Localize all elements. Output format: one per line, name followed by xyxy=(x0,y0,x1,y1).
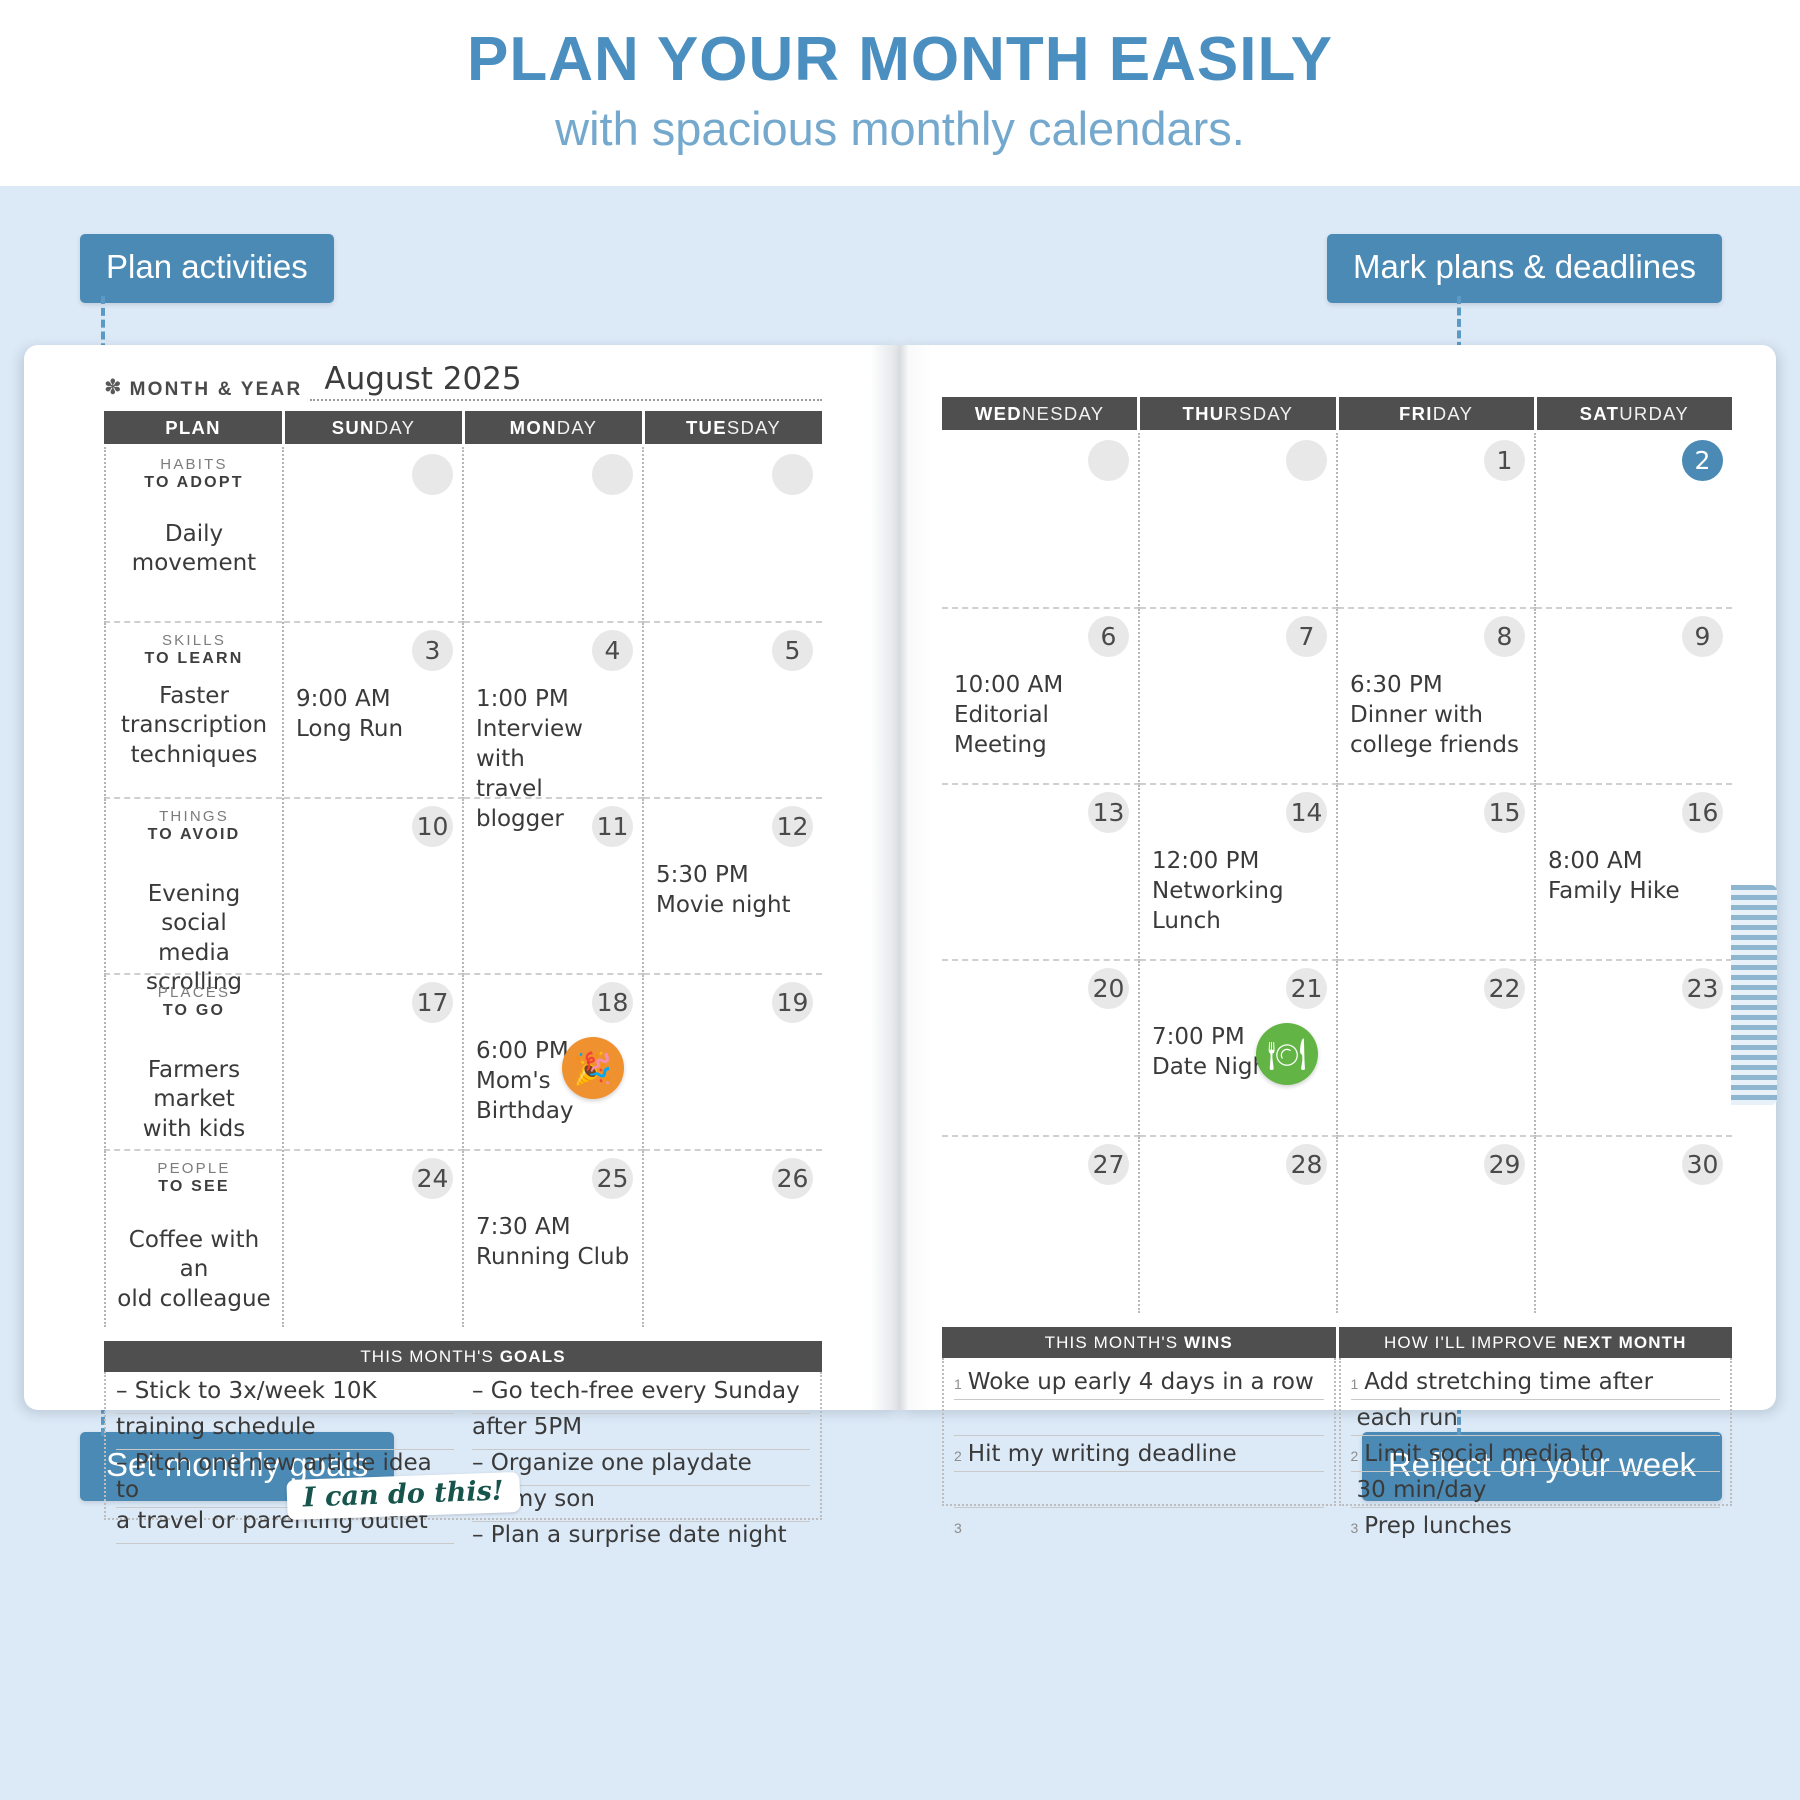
header-friday-bold: FRI xyxy=(1399,403,1433,424)
calendar-day-cell[interactable]: 20 xyxy=(942,961,1140,1137)
plan-cell-places-k1: PLACES xyxy=(112,984,276,1001)
plan-cell-habits-k1: HABITS xyxy=(112,456,276,473)
event-line: 5:30 PM xyxy=(656,861,814,891)
event-line: college friends xyxy=(1350,731,1526,761)
event-line: Family Hike xyxy=(1548,877,1724,907)
event-line: Lunch xyxy=(1152,907,1328,937)
calendar-day-cell[interactable]: 186:00 PMMom's Birthday🎉 xyxy=(464,975,644,1151)
goals-title-bold: GOALS xyxy=(500,1347,566,1366)
wins-line[interactable]: 1Woke up early 4 days in a row xyxy=(954,1364,1324,1400)
improve-line-text: each run xyxy=(1357,1405,1458,1432)
callout-plan-activities: Plan activities xyxy=(80,234,334,303)
calendar-day-cell[interactable]: 5 xyxy=(644,623,822,799)
header-plan: PLAN xyxy=(104,411,282,444)
header-wednesday-bold: WED xyxy=(975,403,1022,424)
day-number: 2 xyxy=(1682,440,1723,481)
day-number: 24 xyxy=(412,1158,453,1199)
calendar-week-row: 20217:00 PMDate Night🍽2223 xyxy=(942,961,1732,1137)
calendar-day-cell[interactable] xyxy=(464,447,644,623)
plan-cell-skills-k1: SKILLS xyxy=(112,632,276,649)
planner-left-page: ✽ MONTH & YEAR August 2025 PLAN SUNDAY M… xyxy=(24,345,900,1410)
goal-line[interactable]: training schedule xyxy=(116,1414,454,1450)
header-sunday: SUNDAY xyxy=(285,411,462,444)
right-page-content: WEDNESDAY THURSDAY FRIDAY SATURDAY 12610… xyxy=(942,397,1732,1506)
calendar-day-cell[interactable] xyxy=(284,447,464,623)
reflection-section: THIS MONTH'S WINS 1Woke up early 4 days … xyxy=(942,1327,1732,1506)
calendar-week-row: 1011125:30 PMMovie night xyxy=(284,799,822,975)
goals-title-bar: THIS MONTH'S GOALS xyxy=(104,1341,822,1372)
calendar-day-cell[interactable]: 15 xyxy=(1338,785,1536,961)
day-event-text: 9:00 AMLong Run xyxy=(296,685,454,745)
event-line: Networking xyxy=(1152,877,1328,907)
day-number: 26 xyxy=(772,1158,813,1199)
day-number: 20 xyxy=(1088,968,1129,1009)
day-number xyxy=(1088,440,1129,481)
right-weekday-headers: WEDNESDAY THURSDAY FRIDAY SATURDAY xyxy=(942,397,1732,430)
goals-left-column: – Stick to 3x/week 10K training schedule… xyxy=(116,1378,454,1557)
left-weekday-headers: PLAN SUNDAY MONDAY TUESDAY xyxy=(104,411,822,444)
day-number: 14 xyxy=(1286,792,1327,833)
header-tuesday: TUESDAY xyxy=(645,411,822,444)
event-line: Long Run xyxy=(296,715,454,745)
day-number: 17 xyxy=(412,982,453,1023)
day-number: 1 xyxy=(1484,440,1525,481)
calendar-day-cell[interactable]: 10 xyxy=(284,799,464,975)
goals-right-column: – Go tech-free every Sunday after 5PM – … xyxy=(472,1378,810,1557)
party-popper-icon[interactable]: 🎉 xyxy=(562,1037,624,1099)
day-event-text: 6:30 PMDinner withcollege friends xyxy=(1350,671,1526,761)
calendar-day-cell[interactable]: 13 xyxy=(942,785,1140,961)
wins-line[interactable]: 3 xyxy=(954,1508,1324,1543)
plan-cell-skills-k2: TO LEARN xyxy=(112,650,276,668)
header-monday: MONDAY xyxy=(465,411,642,444)
event-line: Running Club xyxy=(476,1243,634,1273)
day-number: 27 xyxy=(1088,1144,1129,1185)
plan-cell-skills[interactable]: SKILLS TO LEARN Fastertranscriptiontechn… xyxy=(104,623,282,799)
calendar-day-cell[interactable]: 26 xyxy=(644,1151,822,1327)
wins-title-plain: THIS MONTH'S xyxy=(1045,1333,1184,1352)
plan-cell-habits-k2: TO ADOPT xyxy=(112,474,276,492)
header-saturday-bold: SAT xyxy=(1580,403,1620,424)
calendar-day-cell[interactable]: 22 xyxy=(1338,961,1536,1137)
goal-line[interactable]: – Stick to 3x/week 10K xyxy=(116,1378,454,1414)
calendar-day-cell[interactable]: 7 xyxy=(1140,609,1338,785)
calendar-day-cell[interactable]: 27 xyxy=(942,1137,1140,1313)
day-number: 8 xyxy=(1484,616,1525,657)
day-number: 21 xyxy=(1286,968,1327,1009)
event-line: 1:00 PM xyxy=(476,685,634,715)
header-wednesday-rest: NESDAY xyxy=(1022,403,1105,424)
text-line: transcription xyxy=(112,711,276,740)
month-year-label: MONTH & YEAR xyxy=(130,379,303,401)
day-number: 7 xyxy=(1286,616,1327,657)
day-number: 29 xyxy=(1484,1144,1525,1185)
plan-cell-avoid-k1: THINGS xyxy=(112,808,276,825)
goal-line[interactable]: – Plan a surprise date night xyxy=(472,1522,810,1557)
improve-line-number: 1 xyxy=(1351,1376,1359,1396)
planner-right-page: WEDNESDAY THURSDAY FRIDAY SATURDAY 12610… xyxy=(900,345,1776,1410)
event-line: 12:00 PM xyxy=(1152,847,1328,877)
improve-title-plain: HOW I'LL IMPROVE xyxy=(1384,1333,1563,1352)
promo-header: PLAN YOUR MONTH EASILY with spacious mon… xyxy=(0,0,1800,186)
improve-line[interactable]: 30 min/day xyxy=(1351,1472,1721,1508)
wins-body: 1Woke up early 4 days in a row 2Hit my w… xyxy=(942,1358,1336,1506)
wins-title-bar: THIS MONTH'S WINS xyxy=(942,1327,1336,1358)
header-friday: FRIDAY xyxy=(1339,397,1534,430)
right-days-grid: 12610:00 AMEditorialMeeting786:30 PMDinn… xyxy=(942,433,1732,1313)
improve-body: 1Add stretching time after each run 2Lim… xyxy=(1339,1358,1733,1506)
calendar-day-cell[interactable]: 30 xyxy=(1536,1137,1732,1313)
header-saturday-rest: URDAY xyxy=(1619,403,1689,424)
improve-line[interactable]: 3Prep lunches xyxy=(1351,1508,1721,1543)
plan-cell-habits-value: Dailymovement xyxy=(112,520,276,579)
event-line: Meeting xyxy=(954,731,1130,761)
event-line: 7:30 AM xyxy=(476,1213,634,1243)
text-line: Daily xyxy=(112,520,276,549)
plan-cell-people-value: Coffee with anold colleague xyxy=(112,1226,276,1314)
day-event-text: 8:00 AMFamily Hike xyxy=(1548,847,1724,907)
day-number: 30 xyxy=(1682,1144,1723,1185)
calendar-day-cell[interactable]: 257:30 AMRunning Club xyxy=(464,1151,644,1327)
plan-cell-skills-value: Fastertranscriptiontechniques xyxy=(112,682,276,770)
improve-line-text: Limit social media to xyxy=(1364,1441,1603,1468)
header-sunday-bold: SUN xyxy=(332,417,375,438)
header-sunday-rest: DAY xyxy=(375,417,416,438)
plan-cell-people-k2: TO SEE xyxy=(112,1178,276,1196)
event-line: Dinner with xyxy=(1350,701,1526,731)
left-page-content: ✽ MONTH & YEAR August 2025 PLAN SUNDAY M… xyxy=(104,361,822,1520)
calendar-day-cell[interactable]: 217:00 PMDate Night🍽 xyxy=(1140,961,1338,1137)
calendar-week-row: 610:00 AMEditorialMeeting786:30 PMDinner… xyxy=(942,609,1732,785)
text-line: old colleague xyxy=(112,1285,276,1314)
day-number xyxy=(1286,440,1327,481)
calendar-week-row xyxy=(284,447,822,623)
header-thursday-bold: THU xyxy=(1182,403,1224,424)
text-line: techniques xyxy=(112,741,276,770)
text-line: Coffee with an xyxy=(112,1226,276,1285)
calendar-day-cell[interactable]: 24 xyxy=(284,1151,464,1327)
wins-line[interactable]: 2Hit my writing deadline xyxy=(954,1436,1324,1472)
day-event-text: 12:00 PMNetworkingLunch xyxy=(1152,847,1328,937)
calendar-day-cell[interactable]: 610:00 AMEditorialMeeting xyxy=(942,609,1140,785)
event-line: 9:00 AM xyxy=(296,685,454,715)
improve-line-number: 2 xyxy=(1351,1448,1359,1468)
wins-line-text: Hit my writing deadline xyxy=(968,1441,1237,1468)
motivation-sticker: I can do this! xyxy=(287,1472,521,1520)
day-number xyxy=(412,454,453,495)
day-number: 18 xyxy=(592,982,633,1023)
day-number xyxy=(592,454,633,495)
page-title: PLAN YOUR MONTH EASILY xyxy=(467,24,1333,95)
header-saturday: SATURDAY xyxy=(1537,397,1732,430)
goals-title-plain: THIS MONTH'S xyxy=(360,1347,499,1366)
day-number: 16 xyxy=(1682,792,1723,833)
header-friday-rest: DAY xyxy=(1433,403,1474,424)
dinner-plate-icon[interactable]: 🍽 xyxy=(1256,1023,1318,1085)
right-calendar-grid: 12610:00 AMEditorialMeeting786:30 PMDinn… xyxy=(942,433,1732,1313)
month-year-value[interactable]: August 2025 xyxy=(310,361,822,401)
event-line: Movie night xyxy=(656,891,814,921)
header-thursday: THURSDAY xyxy=(1140,397,1335,430)
event-line: Editorial xyxy=(954,701,1130,731)
plan-cell-avoid-k2: TO AVOID xyxy=(112,826,276,844)
calendar-day-cell[interactable] xyxy=(942,433,1140,609)
calendar-day-cell[interactable]: 2 xyxy=(1536,433,1732,609)
calendar-day-cell[interactable]: 17 xyxy=(284,975,464,1151)
goal-line[interactable]: – Go tech-free every Sunday xyxy=(472,1378,810,1414)
day-event-text: 7:30 AMRunning Club xyxy=(476,1213,634,1273)
month-year-row: ✽ MONTH & YEAR August 2025 xyxy=(104,361,822,401)
calendar-week-row: 39:00 AMLong Run41:00 PMInterview withtr… xyxy=(284,623,822,799)
header-wednesday: WEDNESDAY xyxy=(942,397,1137,430)
improve-line-text: Prep lunches xyxy=(1364,1513,1511,1540)
event-line: 8:00 AM xyxy=(1548,847,1724,877)
wins-line-number: 2 xyxy=(954,1448,962,1468)
calendar-week-row: 17186:00 PMMom's Birthday🎉19 xyxy=(284,975,822,1151)
day-number: 11 xyxy=(592,806,633,847)
text-line: Farmers market xyxy=(112,1056,276,1115)
header-tuesday-rest: SDAY xyxy=(727,417,781,438)
day-number: 23 xyxy=(1682,968,1723,1009)
event-line: 10:00 AM xyxy=(954,671,1130,701)
header-thursday-rest: RSDAY xyxy=(1224,403,1293,424)
calendar-week-row: 24257:30 AMRunning Club26 xyxy=(284,1151,822,1327)
day-number: 9 xyxy=(1682,616,1723,657)
calendar-day-cell[interactable]: 168:00 AMFamily Hike xyxy=(1536,785,1732,961)
calendar-day-cell[interactable] xyxy=(1140,433,1338,609)
left-calendar-grid: HABITS TO ADOPT Dailymovement SKILLS TO … xyxy=(104,447,822,1327)
day-number: 10 xyxy=(412,806,453,847)
plan-cell-places-value: Farmers marketwith kids xyxy=(112,1056,276,1144)
day-number: 13 xyxy=(1088,792,1129,833)
wins-line-number: 1 xyxy=(954,1376,962,1396)
wins-line-text: Woke up early 4 days in a row xyxy=(968,1369,1314,1396)
day-number xyxy=(772,454,813,495)
improve-line[interactable]: each run xyxy=(1351,1400,1721,1436)
header-plan-bold: PLAN xyxy=(165,417,221,438)
wins-line-number: 3 xyxy=(954,1520,962,1540)
planner-spread: ✽ MONTH & YEAR August 2025 PLAN SUNDAY M… xyxy=(24,345,1776,1410)
plan-cell-habits[interactable]: HABITS TO ADOPT Dailymovement xyxy=(104,447,282,623)
plan-cell-people-k1: PEOPLE xyxy=(112,1160,276,1177)
header-monday-bold: MON xyxy=(510,417,557,438)
calendar-day-cell[interactable]: 11 xyxy=(464,799,644,975)
plan-cell-people[interactable]: PEOPLE TO SEE Coffee with anold colleagu… xyxy=(104,1151,282,1327)
goal-line[interactable]: – Organize one playdate xyxy=(472,1450,810,1486)
day-number: 19 xyxy=(772,982,813,1023)
improve-line[interactable]: 2Limit social media to xyxy=(1351,1436,1721,1472)
improve-line-text: 30 min/day xyxy=(1357,1477,1487,1504)
calendar-day-cell[interactable]: 1 xyxy=(1338,433,1536,609)
event-line: Interview with xyxy=(476,715,634,775)
calendar-day-cell[interactable]: 19 xyxy=(644,975,822,1151)
day-number: 4 xyxy=(592,630,633,671)
day-number: 28 xyxy=(1286,1144,1327,1185)
calendar-week-row: 12 xyxy=(942,433,1732,609)
goals-section: THIS MONTH'S GOALS – Stick to 3x/week 10… xyxy=(104,1341,822,1520)
calendar-day-cell[interactable]: 29 xyxy=(1338,1137,1536,1313)
day-number: 22 xyxy=(1484,968,1525,1009)
goal-line[interactable]: for my son xyxy=(472,1486,810,1522)
calendar-day-cell[interactable]: 39:00 AMLong Run xyxy=(284,623,464,799)
day-number: 15 xyxy=(1484,792,1525,833)
day-event-text: 10:00 AMEditorialMeeting xyxy=(954,671,1130,761)
feather-pen-icon: ✽ xyxy=(104,377,122,398)
text-line: Evening social xyxy=(112,880,276,939)
plan-column: HABITS TO ADOPT Dailymovement SKILLS TO … xyxy=(104,447,284,1327)
header-monday-rest: DAY xyxy=(557,417,598,438)
text-line: movement xyxy=(112,549,276,578)
event-line: 6:30 PM xyxy=(1350,671,1526,701)
plan-cell-places[interactable]: PLACES TO GO Farmers marketwith kids xyxy=(104,975,282,1151)
header-tuesday-bold: TUE xyxy=(686,417,727,438)
wins-line[interactable] xyxy=(954,1472,1324,1508)
calendar-day-cell[interactable]: 41:00 PMInterview withtravel blogger xyxy=(464,623,644,799)
day-event-text: 5:30 PMMovie night xyxy=(656,861,814,921)
calendar-day-cell[interactable]: 23 xyxy=(1536,961,1732,1137)
day-number: 6 xyxy=(1088,616,1129,657)
improve-line-text: Add stretching time after xyxy=(1364,1369,1653,1396)
callout-mark-plans: Mark plans & deadlines xyxy=(1327,234,1722,303)
calendar-day-cell[interactable] xyxy=(644,447,822,623)
improve-line-number: 3 xyxy=(1351,1520,1359,1540)
page-subtitle: with spacious monthly calendars. xyxy=(555,101,1245,156)
plan-cell-places-k2: TO GO xyxy=(112,1002,276,1020)
day-number: 12 xyxy=(772,806,813,847)
left-days-grid: 39:00 AMLong Run41:00 PMInterview withtr… xyxy=(284,447,822,1327)
wins-title-bold: WINS xyxy=(1184,1333,1233,1352)
improve-title-bold: NEXT MONTH xyxy=(1563,1333,1686,1352)
day-number: 5 xyxy=(772,630,813,671)
improve-title-bar: HOW I'LL IMPROVE NEXT MONTH xyxy=(1339,1327,1733,1358)
calendar-week-row: 131412:00 PMNetworkingLunch15168:00 AMFa… xyxy=(942,785,1732,961)
book-binding xyxy=(1731,885,1777,1105)
improve-line[interactable]: 1Add stretching time after xyxy=(1351,1364,1721,1400)
calendar-week-row: 27282930 xyxy=(942,1137,1732,1313)
calendar-day-cell[interactable]: 125:30 PMMovie night xyxy=(644,799,822,975)
calendar-day-cell[interactable]: 9 xyxy=(1536,609,1732,785)
calendar-day-cell[interactable]: 1412:00 PMNetworkingLunch xyxy=(1140,785,1338,961)
calendar-day-cell[interactable]: 28 xyxy=(1140,1137,1338,1313)
calendar-day-cell[interactable]: 86:30 PMDinner withcollege friends xyxy=(1338,609,1536,785)
goal-line[interactable]: after 5PM xyxy=(472,1414,810,1450)
day-number: 25 xyxy=(592,1158,633,1199)
wins-line[interactable] xyxy=(954,1400,1324,1436)
text-line: with kids xyxy=(112,1115,276,1144)
plan-cell-avoid[interactable]: THINGS TO AVOID Evening socialmedia scro… xyxy=(104,799,282,975)
day-number: 3 xyxy=(412,630,453,671)
text-line: Faster xyxy=(112,682,276,711)
goals-body: – Stick to 3x/week 10K training schedule… xyxy=(104,1372,822,1520)
